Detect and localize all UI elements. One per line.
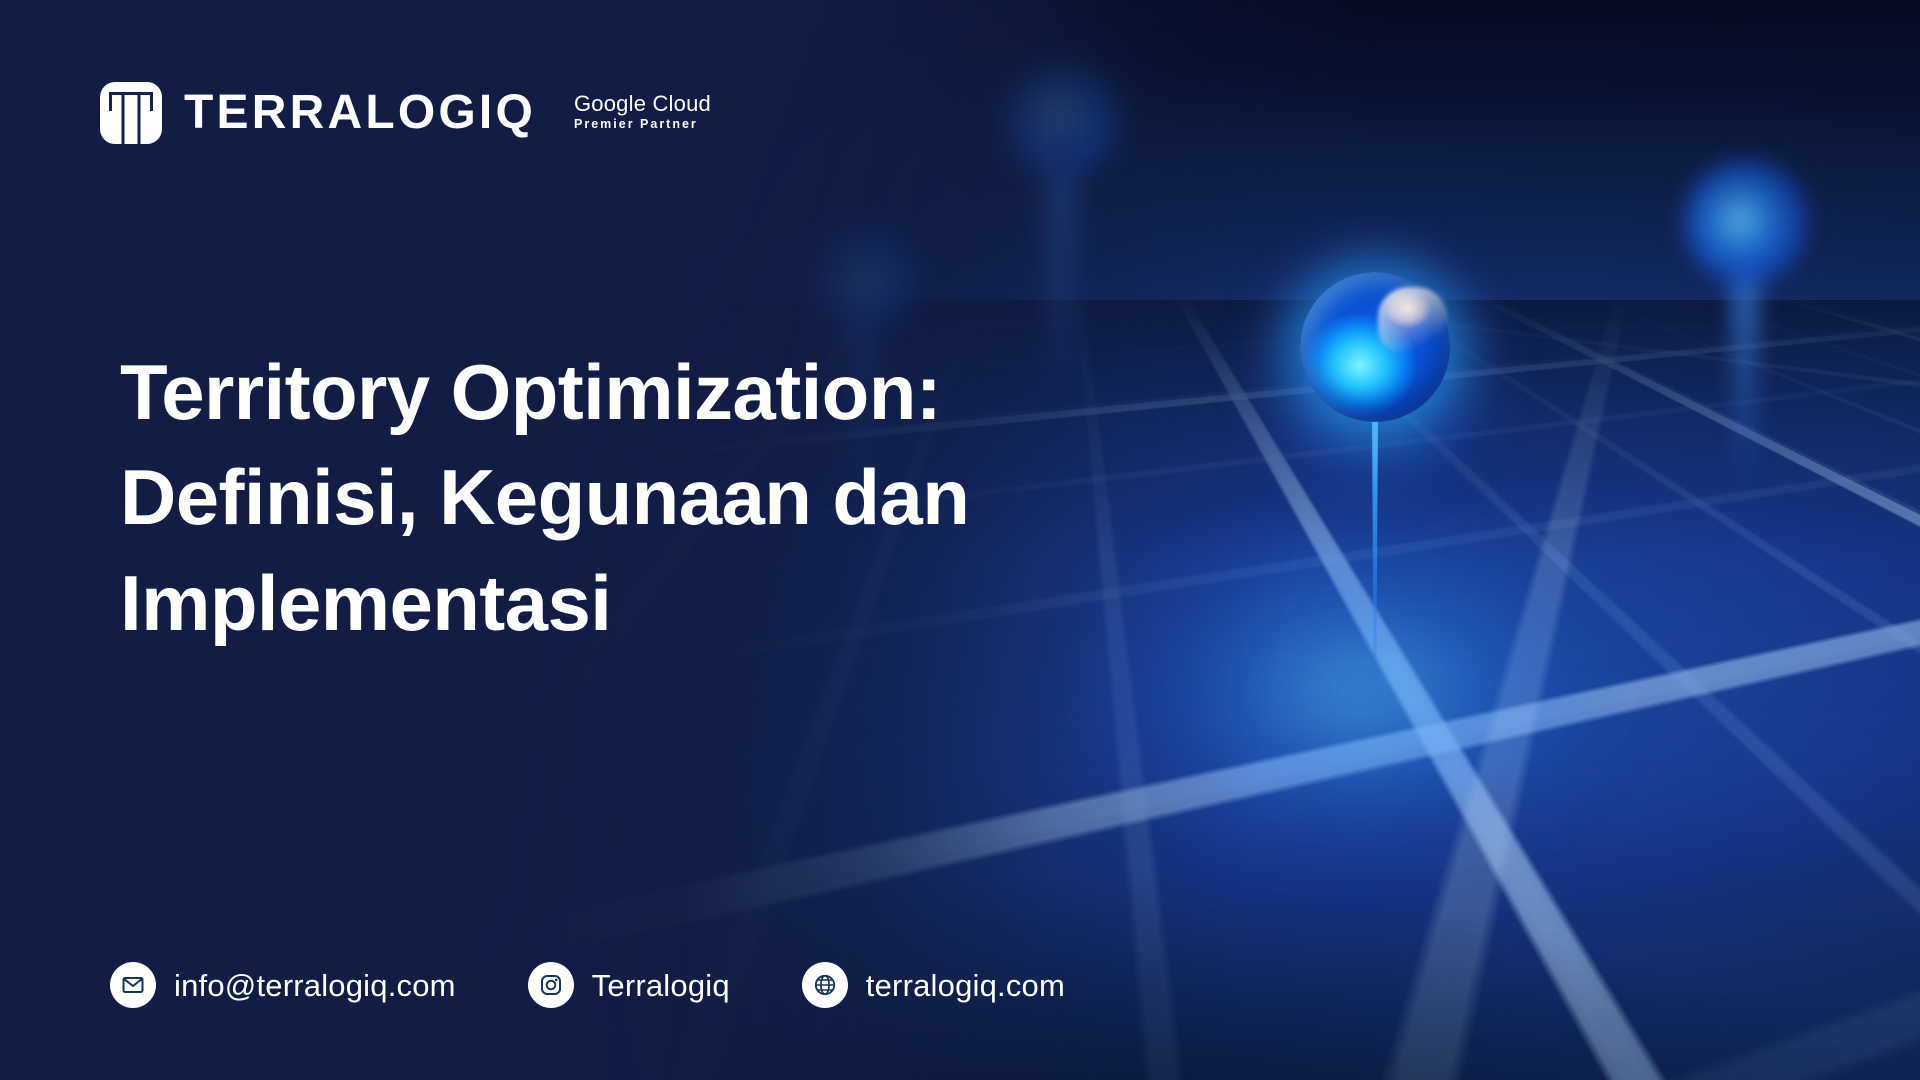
email-icon	[110, 962, 156, 1008]
contact-website[interactable]: terralogiq.com	[802, 962, 1065, 1008]
marketing-banner: TERRALOGIQ Google Cloud Premier Partner …	[0, 0, 1920, 1080]
partner-badge-line1: Google Cloud	[574, 92, 711, 117]
contact-email-label: info@terralogiq.com	[174, 970, 456, 1001]
instagram-icon	[528, 962, 574, 1008]
headline-line-2: Definisi, Kegunaan dan	[120, 445, 1140, 550]
contact-website-label: terralogiq.com	[866, 970, 1065, 1001]
contact-instagram[interactable]: Terralogiq	[528, 962, 730, 1008]
partner-badge-line2: Premier Partner	[574, 117, 698, 133]
google-cloud-partner-badge: Google Cloud Premier Partner	[574, 92, 711, 134]
page-title: Territory Optimization: Definisi, Keguna…	[120, 340, 1140, 656]
banner-content: TERRALOGIQ Google Cloud Premier Partner …	[0, 0, 1920, 1080]
monogram-stem	[122, 92, 141, 144]
brand-lockup: TERRALOGIQ Google Cloud Premier Partner	[100, 82, 711, 144]
terralogiq-t-monogram-icon	[100, 82, 162, 144]
footer-contact-bar: info@terralogiq.com Terralogiq	[110, 962, 1065, 1008]
brand-wordmark: TERRALOGIQ	[184, 89, 536, 137]
contact-instagram-label: Terralogiq	[592, 970, 730, 1001]
contact-email[interactable]: info@terralogiq.com	[110, 962, 456, 1008]
globe-icon	[802, 962, 848, 1008]
headline-line-3: Implementasi	[120, 551, 1140, 656]
headline-line-1: Territory Optimization:	[120, 340, 1140, 445]
